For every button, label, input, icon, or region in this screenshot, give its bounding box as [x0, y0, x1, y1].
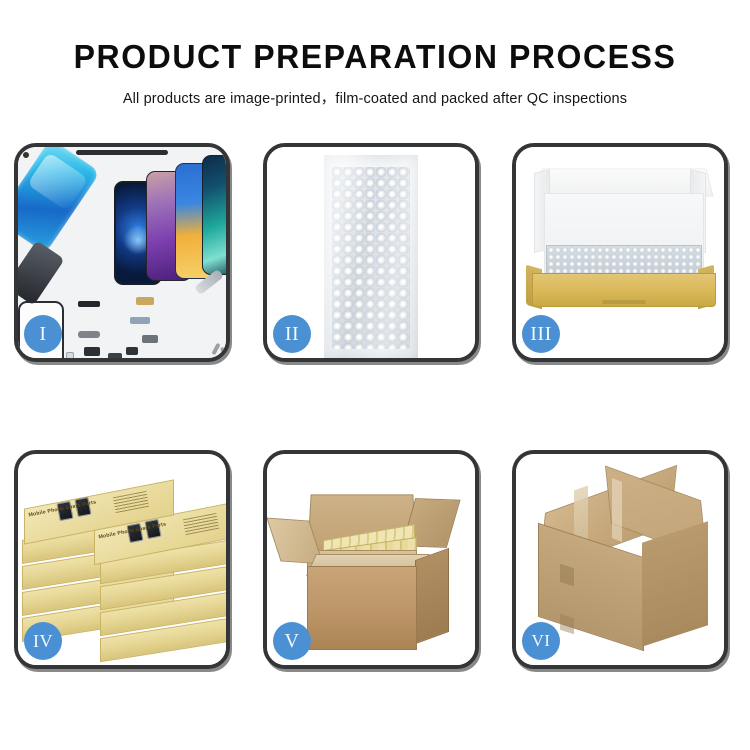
step-panel-5: V: [263, 450, 479, 669]
product-preparation-infographic: PRODUCT PREPARATION PROCESS All products…: [0, 0, 750, 750]
step-panel-3: III: [512, 143, 728, 362]
blue-adhesive-part: [14, 143, 100, 253]
carton-seam-tab-2: [560, 614, 574, 635]
step-panel-2: II: [263, 143, 479, 362]
step-badge-4: IV: [24, 622, 62, 660]
page-subtitle: All products are image-printed，film-coat…: [0, 87, 750, 108]
screwdriver-part-2: [220, 347, 228, 360]
flex-cable-part-3: [130, 317, 150, 324]
sealed-carton-side: [642, 521, 708, 646]
earpiece-part: [78, 301, 100, 307]
flex-cable-part-5: [126, 347, 138, 355]
lcd-back-part: [14, 240, 65, 305]
bubble-wrapped-contents: [546, 245, 702, 275]
step-badge-3: III: [522, 315, 560, 353]
inner-box-front-wall: [532, 273, 716, 307]
step-badge-6: VI: [522, 622, 560, 660]
header: PRODUCT PREPARATION PROCESS All products…: [0, 0, 750, 108]
flex-cable-part-6: [142, 335, 158, 343]
page-title: PRODUCT PREPARATION PROCESS: [11, 40, 739, 73]
carton-front-panel: [307, 566, 417, 650]
step-panel-4: Mobile Phone Spare Parts Mobile Phone Sp…: [14, 450, 230, 669]
bubble-wrap-sleeve: [324, 155, 418, 360]
screwdriver-part-1: [211, 343, 220, 355]
step-badge-2: II: [273, 315, 311, 353]
step-panel-6: VI: [512, 450, 728, 669]
phone-screen-teal: [202, 155, 230, 275]
sim-tray-part: [66, 352, 74, 362]
plastic-gloss-overlay: [324, 155, 418, 360]
carton-side-panel: [415, 548, 449, 644]
step-badge-1: I: [24, 315, 62, 353]
flex-cable-part-2: [136, 297, 154, 305]
packing-tape-strip-2: [612, 478, 622, 542]
step-panel-1: I: [14, 143, 230, 362]
flex-cable-part-1: [78, 331, 100, 338]
step-badge-5: V: [273, 622, 311, 660]
vibrator-motor-part: [108, 353, 122, 362]
flex-cable-part-4: [84, 347, 100, 356]
steps-grid: I II III: [14, 143, 736, 679]
